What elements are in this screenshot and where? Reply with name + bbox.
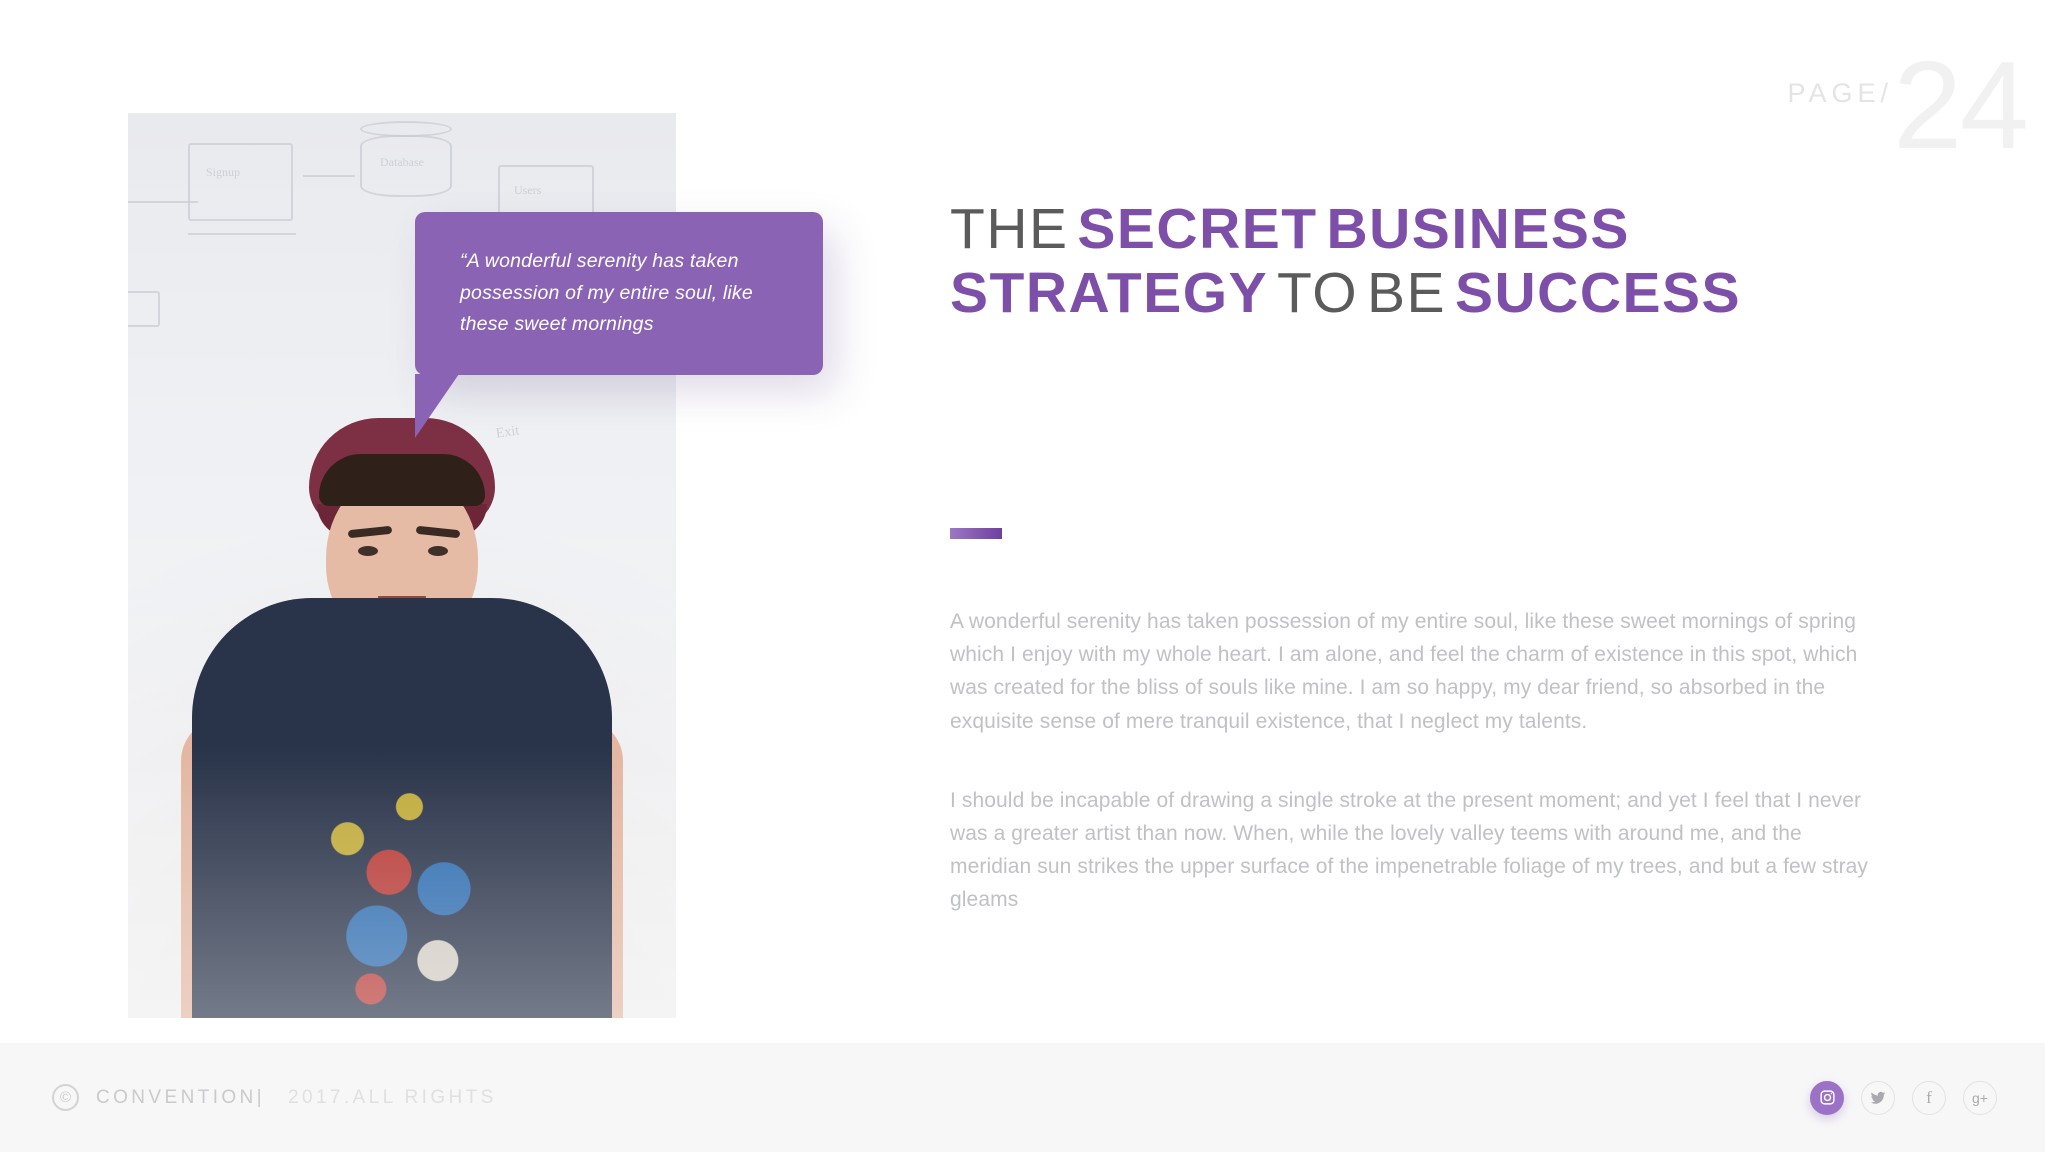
slide-root: PAGE/ 24 Signup Database Users Exit xyxy=(0,0,2045,1152)
social-links: f g+ xyxy=(1810,1081,1997,1115)
footer-brand: CONVENTION| xyxy=(96,1087,265,1109)
whiteboard-arrow-icon xyxy=(188,233,296,235)
tshirt xyxy=(192,598,612,1018)
whiteboard-cylinder-icon xyxy=(360,121,452,137)
hair xyxy=(319,454,485,506)
whiteboard-box-icon xyxy=(128,291,160,327)
whiteboard-arrow-icon xyxy=(128,201,198,203)
page-title: THE SECRET BUSINESS STRATEGY TO BE SUCCE… xyxy=(950,198,1910,326)
instagram-icon[interactable] xyxy=(1810,1081,1844,1115)
facebook-icon[interactable]: f xyxy=(1912,1081,1946,1115)
whiteboard-label: Users xyxy=(514,183,541,198)
quote-bubble: “A wonderful serenity has taken possessi… xyxy=(415,212,823,375)
eyebrow-right xyxy=(416,526,461,539)
title-divider xyxy=(950,528,1002,539)
body-paragraph-1: A wonderful serenity has taken possessio… xyxy=(950,605,1875,738)
headline-word-secret: SECRET xyxy=(1077,197,1317,261)
headline-word-success: SUCCESS xyxy=(1455,261,1741,325)
twitter-icon[interactable] xyxy=(1861,1081,1895,1115)
facebook-glyph: f xyxy=(1926,1088,1932,1108)
google-plus-icon[interactable]: g+ xyxy=(1963,1081,1997,1115)
headline-word-to: TO xyxy=(1277,261,1358,325)
footer: © CONVENTION| 2017.ALL RIGHTS f xyxy=(0,1043,2045,1152)
person-figure xyxy=(187,418,617,1018)
eye-right xyxy=(428,546,448,556)
tshirt-graphic xyxy=(275,759,528,1018)
page-indicator: PAGE/ 24 xyxy=(1788,56,2027,158)
page-label: PAGE/ xyxy=(1788,80,1894,107)
whiteboard-label: Signup xyxy=(206,165,240,180)
headline-word-the: THE xyxy=(950,197,1069,261)
headline-word-business: BUSINESS xyxy=(1326,197,1629,261)
eye-left xyxy=(358,546,378,556)
copyright-icon: © xyxy=(52,1084,79,1111)
footer-rights: 2017.ALL RIGHTS xyxy=(288,1087,497,1109)
headline-word-be: BE xyxy=(1367,261,1446,325)
copyright: © CONVENTION| 2017.ALL RIGHTS xyxy=(52,1084,497,1111)
quote-bubble-tail xyxy=(415,374,459,438)
headline-word-strategy: STRATEGY xyxy=(950,261,1268,325)
body-copy: A wonderful serenity has taken possessio… xyxy=(950,605,1875,916)
whiteboard-box-icon xyxy=(188,143,293,221)
body-paragraph-2: I should be incapable of drawing a singl… xyxy=(950,784,1875,917)
page-number: 24 xyxy=(1893,56,2027,158)
whiteboard-arrow-icon xyxy=(303,175,355,177)
google-plus-glyph: g+ xyxy=(1972,1090,1988,1106)
whiteboard-label: Database xyxy=(380,155,424,170)
eyebrow-left xyxy=(348,526,393,539)
quote-text: “A wonderful serenity has taken possessi… xyxy=(460,246,790,341)
